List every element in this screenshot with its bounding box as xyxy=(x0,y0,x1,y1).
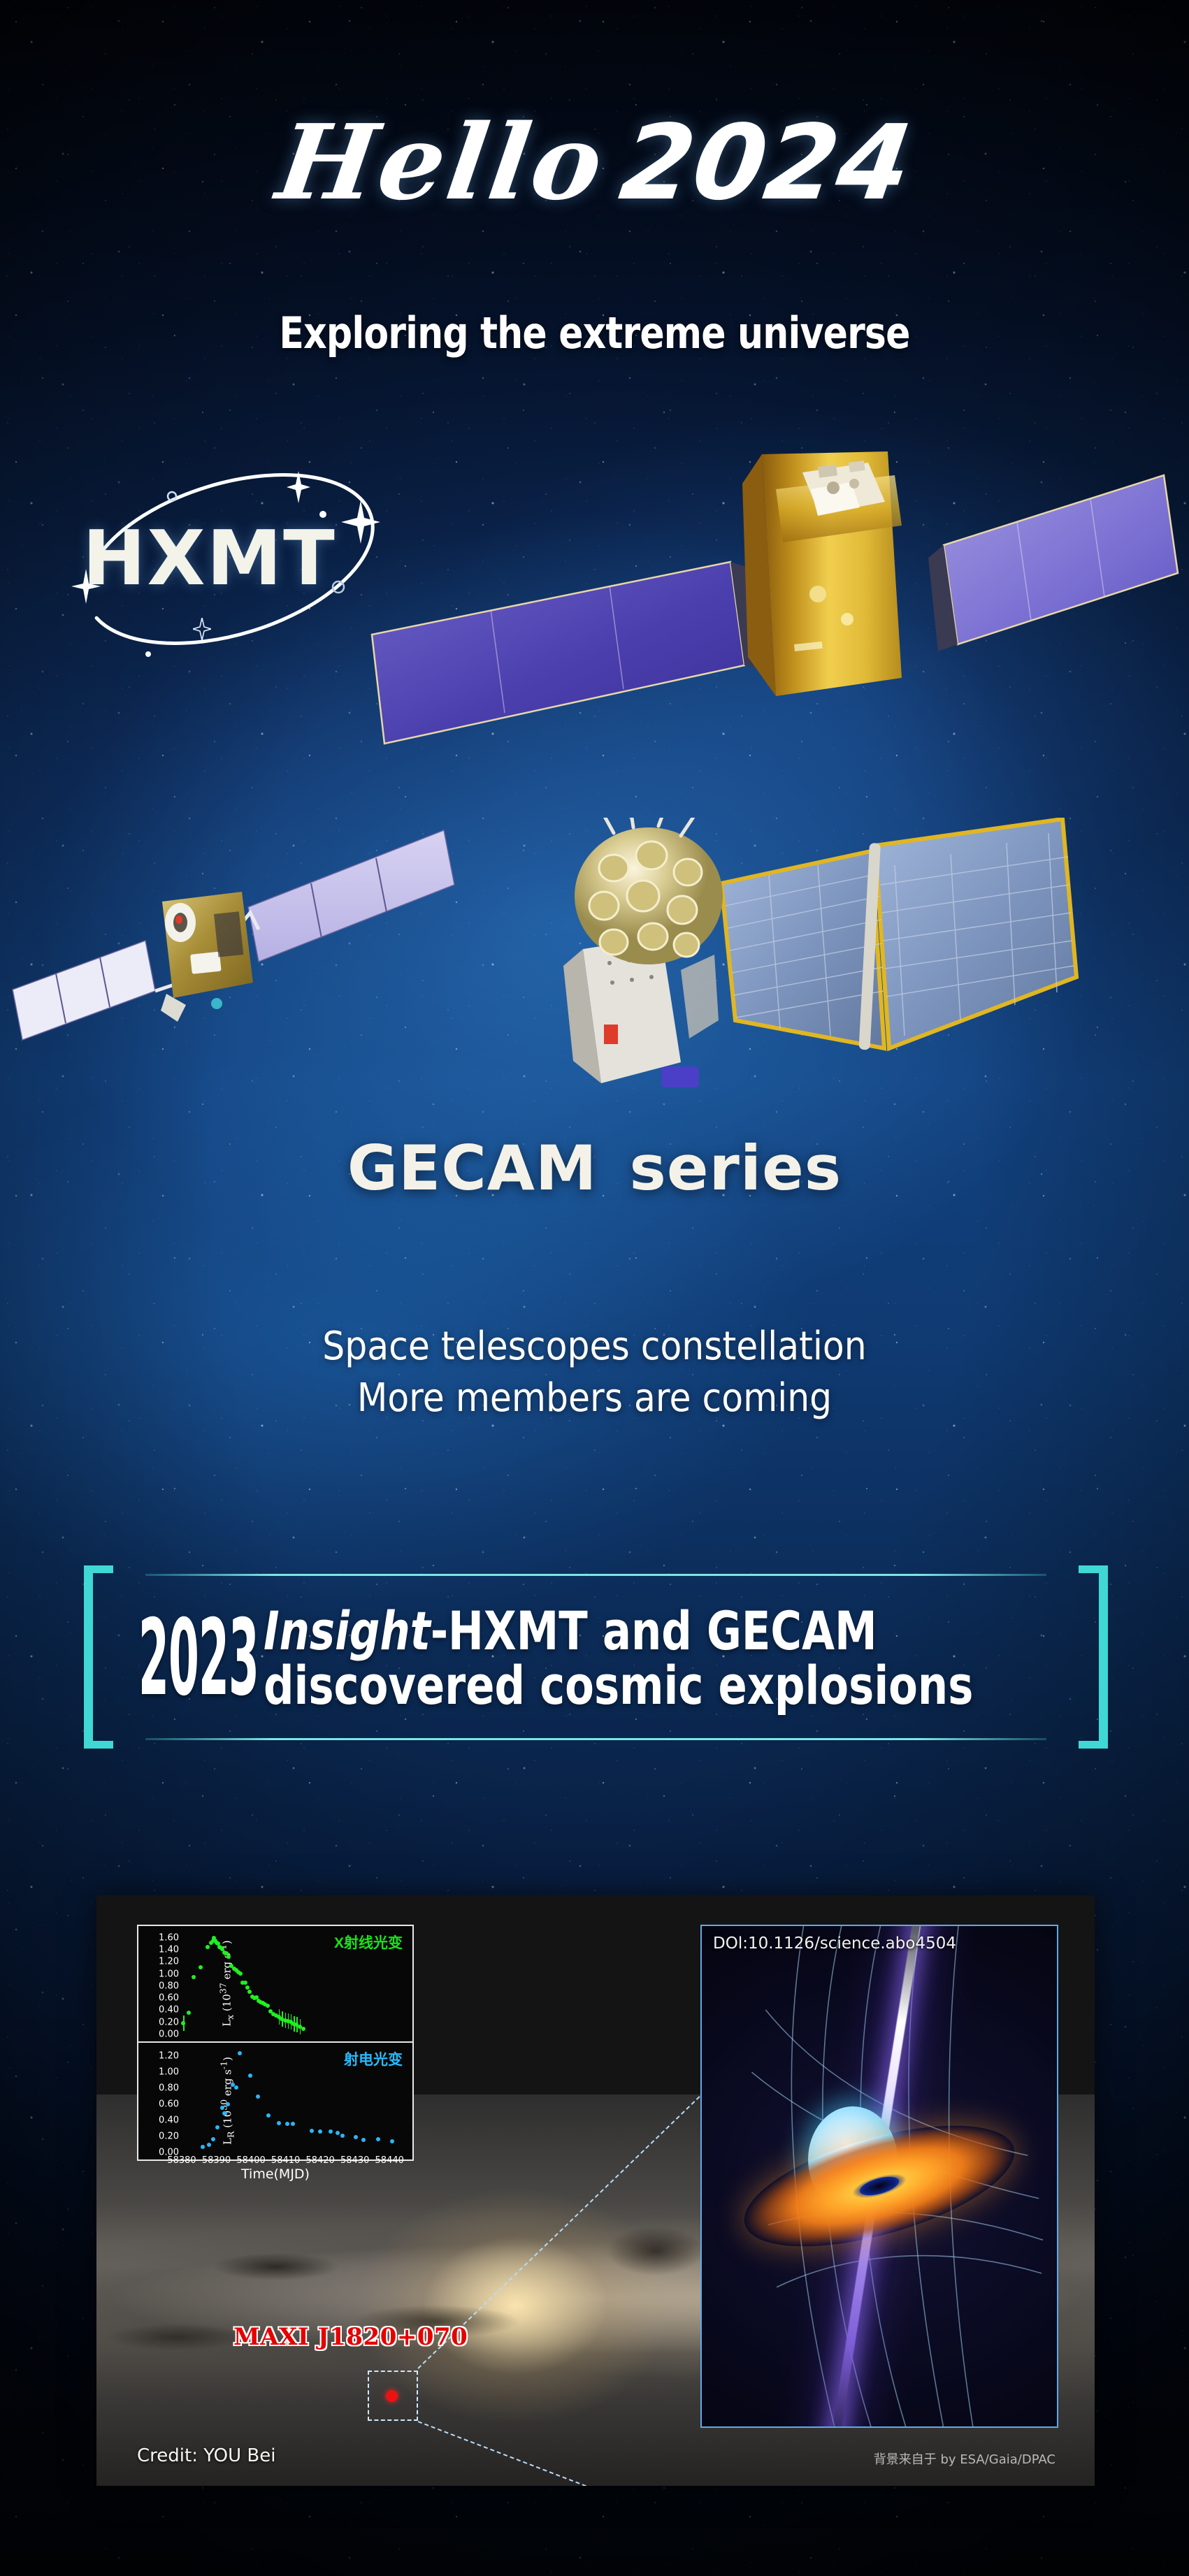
data-point xyxy=(354,2135,358,2139)
y-axis-tick-label: 1.00 xyxy=(159,1969,179,1979)
radio-plot-area: LR (1030 erg s-1) 0.000.200.400.600.801.… xyxy=(182,2048,407,2152)
radio-y-axis-title: LR (1030 erg s-1) xyxy=(218,2057,236,2145)
data-point xyxy=(266,2004,270,2008)
data-point xyxy=(206,1945,210,1949)
data-point xyxy=(199,1965,203,1969)
data-point xyxy=(291,2122,295,2126)
sparkle-icon-1 xyxy=(287,471,310,503)
data-point xyxy=(207,2143,211,2147)
banner-line-2: discovered cosmic explosions xyxy=(264,1658,973,1713)
insight-hxmt-satellite-illustration xyxy=(329,447,1189,797)
y-axis-tick-label: 0.20 xyxy=(159,2132,179,2142)
data-point xyxy=(256,2094,260,2099)
x-axis-tick-label: 58390 xyxy=(202,2155,231,2166)
x-axis-tick-label: 58440 xyxy=(375,2155,404,2166)
data-point xyxy=(243,1981,247,1985)
hxmt-logo: HXMT xyxy=(49,447,412,671)
gecam-title: GECAMseries xyxy=(0,1132,1189,1204)
gecam-sub-line-2: More members are coming xyxy=(59,1373,1130,1424)
x-axis-title: Time(MJD) xyxy=(137,2166,414,2182)
data-point xyxy=(340,2134,345,2138)
y-axis-tick-label: 1.20 xyxy=(159,1957,179,1967)
source-label: MAXI J1820+070 xyxy=(233,2323,468,2351)
bracket-left-top xyxy=(84,1565,113,1573)
data-point xyxy=(361,2138,366,2142)
banner-year: 2023 xyxy=(138,1610,259,1707)
banner-rule-bottom xyxy=(145,1738,1046,1740)
xray-light-curve-panel: X射线光变 Lx (1037 erg s-1) 0.000.200.400.60… xyxy=(138,1926,412,2043)
doi-label: DOl:10.1126/science.abo4504 xyxy=(713,1934,956,1953)
y-axis-tick-label: 1.60 xyxy=(159,1932,179,1943)
hello-year: 2024 xyxy=(614,103,918,223)
x-axis-tick-label: 58420 xyxy=(305,2155,334,2166)
error-bar xyxy=(183,2016,185,2031)
bracket-right-bottom xyxy=(1079,1741,1108,1749)
data-point xyxy=(390,2139,394,2143)
gecam-sub-line-1: Space telescopes constellation xyxy=(59,1321,1130,1373)
black-hole-illustration: DOl:10.1126/science.abo4504 xyxy=(700,1925,1058,2428)
sparkle-icon-2 xyxy=(341,500,380,544)
error-bar xyxy=(291,2014,292,2029)
hero-header: Hello2024 Exploring the extreme universe xyxy=(0,0,1189,391)
banner-line-1: Insight-HXMT and GECAM xyxy=(264,1604,973,1658)
data-point xyxy=(238,2051,242,2055)
banner-line-1-rest: -HXMT and GECAM xyxy=(431,1600,877,1662)
y-axis-tick-label: 0.60 xyxy=(159,2099,179,2110)
y-axis-tick-label: 0.80 xyxy=(159,2083,179,2094)
data-point xyxy=(329,2129,333,2134)
y-axis-tick-label: 1.40 xyxy=(159,1944,179,1955)
page-title: Hello2024 xyxy=(0,110,1189,215)
bracket-left-bar xyxy=(84,1570,93,1744)
gecam-title-main: GECAM xyxy=(347,1132,598,1204)
data-point xyxy=(248,2074,252,2078)
data-point xyxy=(187,2011,191,2015)
data-point xyxy=(238,1971,243,1976)
data-point xyxy=(247,1990,252,1994)
data-point xyxy=(336,2131,340,2135)
page-subtitle: Exploring the extreme universe xyxy=(95,307,1094,359)
data-point xyxy=(245,1985,250,1990)
data-point xyxy=(266,2113,271,2118)
y-axis-tick-label: 1.00 xyxy=(159,2067,179,2078)
x-axis-tick-label: 58430 xyxy=(340,2155,369,2166)
hxmt-wordmark: HXMT xyxy=(82,521,336,597)
bracket-right-bar xyxy=(1099,1570,1108,1744)
data-point xyxy=(318,2129,322,2134)
poster-canvas: Hello2024 Exploring the extreme universe… xyxy=(0,0,1189,2576)
error-bar xyxy=(300,2019,301,2034)
y-axis-tick-label: 0.40 xyxy=(159,2115,179,2126)
x-axis-tick-label: 58410 xyxy=(271,2155,300,2166)
background-credit: 背景来自于 by ESA/Gaia/DPAC xyxy=(874,2450,1055,2468)
gecam-subtitle: Space telescopes constellation More memb… xyxy=(59,1321,1130,1424)
y-axis-tick-label: 0.40 xyxy=(159,2005,179,2016)
y-axis-tick-label: 0.00 xyxy=(159,2029,179,2040)
bracket-right-top xyxy=(1079,1565,1108,1573)
sparkle-icon-4 xyxy=(193,618,211,640)
gecam-satellite-b-illustration xyxy=(531,818,1146,1104)
data-point xyxy=(310,2129,314,2133)
y-axis-tick-label: 0.60 xyxy=(159,1993,179,2004)
x-axis-tick-label: 58380 xyxy=(167,2155,196,2166)
light-curve-figure: X射线光变 Lx (1037 erg s-1) 0.000.200.400.60… xyxy=(137,1925,414,2161)
bracket-left-bottom xyxy=(84,1741,113,1749)
source-marker-dot xyxy=(386,2390,398,2402)
banner-insight-italic: Insight xyxy=(264,1600,431,1662)
data-point xyxy=(234,2085,238,2090)
banner-text: Insight-HXMT and GECAM discovered cosmic… xyxy=(264,1604,973,1712)
banner-rule-top xyxy=(145,1574,1046,1576)
data-point xyxy=(201,2145,205,2149)
gecam-title-suffix: series xyxy=(629,1132,842,1204)
y-axis-tick-label: 0.20 xyxy=(159,2017,179,2027)
x-axis-tick-label: 58400 xyxy=(236,2155,265,2166)
gecam-satellite-a-illustration xyxy=(7,825,538,1118)
data-point xyxy=(277,2121,281,2125)
data-point xyxy=(376,2137,380,2141)
xray-plot-area: Lx (1037 erg s-1) 0.000.200.400.600.801.… xyxy=(182,1932,407,2034)
data-point xyxy=(211,2137,215,2141)
hello-word: Hello xyxy=(271,101,613,223)
radio-light-curve-panel: 射电光变 LR (1030 erg s-1) 0.000.200.400.600… xyxy=(138,2043,412,2159)
data-point xyxy=(301,2027,305,2031)
discovery-panel: MAXI J1820+070 X射线光变 Lx (1037 erg s-1) 0… xyxy=(96,1895,1095,2486)
y-axis-tick-label: 1.20 xyxy=(159,2051,179,2062)
photo-credit: Credit: YOU Bei xyxy=(137,2445,276,2466)
data-point xyxy=(285,2122,289,2126)
year-banner: 2023 Insight-HXMT and GECAM discovered c… xyxy=(84,1565,1108,1749)
y-axis-tick-label: 0.80 xyxy=(159,1981,179,1991)
data-point xyxy=(192,1975,196,1979)
